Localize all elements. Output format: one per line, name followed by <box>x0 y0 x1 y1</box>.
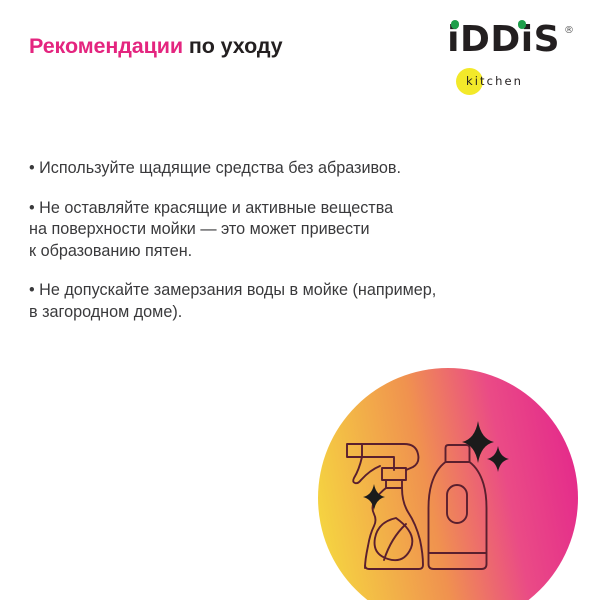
list-item: • Не допускайте замерзания воды в мойке … <box>29 280 549 323</box>
list-item: • Не оставляйте красящие и активные веще… <box>29 198 549 263</box>
logo-dot-icon-second <box>518 20 527 29</box>
card-header: Рекомендации по уходу iDDiS ® kitchen <box>0 0 600 110</box>
logo-dot-icon-first <box>451 20 460 29</box>
page-title-rest: по уходу <box>183 34 283 58</box>
registered-trademark-icon: ® <box>564 25 574 36</box>
cleaning-products-illustration <box>298 366 600 600</box>
list-item: • Используйте щадящие средства без абраз… <box>29 158 549 180</box>
recommendation-list: • Используйте щадящие средства без абраз… <box>29 158 549 323</box>
brand-logo: iDDiS ® kitchen <box>434 22 574 100</box>
logo-sub-label: kitchen <box>466 74 523 89</box>
page-title: Рекомендации по уходу <box>29 36 283 58</box>
logo-wordmark: iDDiS <box>447 22 560 62</box>
page-title-accent: Рекомендации <box>29 34 183 58</box>
care-recommendations-card: Рекомендации по уходу iDDiS ® kitchen • … <box>0 0 600 600</box>
logo-sub-badge: kitchen <box>456 68 542 98</box>
logo-wordmark-text: iDDiS <box>447 22 560 58</box>
